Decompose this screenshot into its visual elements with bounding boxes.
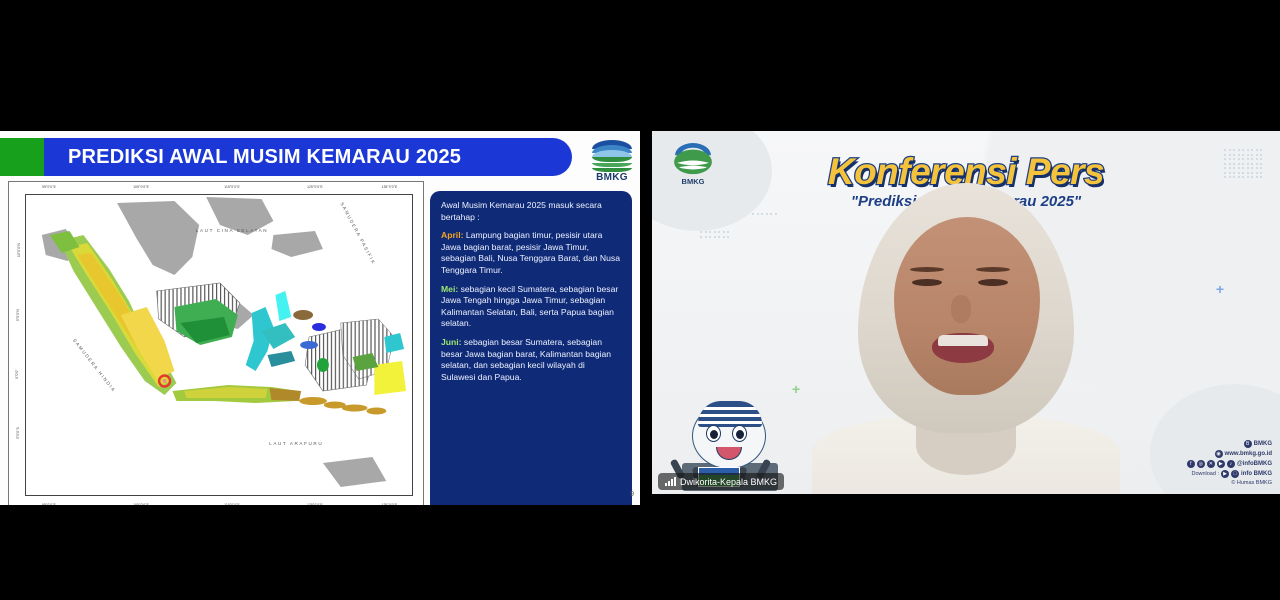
brand-icon: B bbox=[1244, 440, 1252, 448]
map-x-tick: 95°0'0"E bbox=[42, 185, 56, 189]
map-y-tick: 5°0'0"S bbox=[16, 427, 20, 439]
speaker-figure bbox=[806, 183, 1126, 494]
dot-grid-decor bbox=[700, 231, 729, 238]
map-y-tick: 5°0'0"N bbox=[16, 309, 20, 321]
instagram-icon: ◎ bbox=[1197, 460, 1205, 468]
map-x-tick: 135°0'0"E bbox=[382, 185, 398, 189]
map-ocean-label: LAUT CINA SELATAN bbox=[196, 228, 268, 233]
copyright-text: © Humas BMKG bbox=[1231, 480, 1272, 486]
youtube-icon: ▶ bbox=[1217, 460, 1225, 468]
page-number: 9 bbox=[630, 491, 634, 498]
info-juni: Juni: sebagian besar Sumatera, sebagian … bbox=[441, 337, 621, 383]
globe-icon: ◉ bbox=[1215, 450, 1223, 458]
month-label-april: April: bbox=[441, 230, 463, 240]
participant-name-badge: Dwikorita-Kepala BMKG bbox=[658, 473, 784, 490]
header-green-accent bbox=[0, 138, 46, 176]
shared-slide-panel: PREDIKSI AWAL MUSIM KEMARAU 2025 BMKG bbox=[0, 131, 640, 505]
info-panel: Awal Musim Kemarau 2025 masuk secara ber… bbox=[430, 191, 632, 505]
video-contact-block: BBMKG ◉www.bmkg.go.id f ◎ ✕ ▶ ♪ @infoBMK… bbox=[1187, 440, 1272, 488]
map-y-tick: 0°0'0" bbox=[15, 369, 19, 379]
x-twitter-icon: ✕ bbox=[1207, 460, 1215, 468]
info-juni-text: sebagian besar Sumatera, sebagian besar … bbox=[441, 337, 611, 382]
facebook-icon: f bbox=[1187, 460, 1195, 468]
indonesia-season-map: LAUT CINA SELATAN SAMUDERA PASIFIK SAMUD… bbox=[8, 181, 424, 505]
participant-name: Dwikorita-Kepala BMKG bbox=[680, 477, 777, 487]
bmkg-logo-label: BMKG bbox=[586, 172, 638, 183]
map-ocean-label: LAUT ARAFURU bbox=[269, 441, 323, 446]
map-x-tick: 105°0'0"E bbox=[133, 185, 149, 189]
map-plot-area: LAUT CINA SELATAN SAMUDERA PASIFIK SAMUD… bbox=[25, 194, 413, 496]
map-x-tick: 125°0'0"E bbox=[307, 503, 323, 505]
map-x-tick: 115°0'0"E bbox=[224, 503, 240, 505]
download-label: Download : bbox=[1191, 471, 1219, 477]
map-x-tick: 105°0'0"E bbox=[133, 503, 149, 505]
contact-website: www.bmkg.go.id bbox=[1225, 451, 1272, 457]
info-intro: Awal Musim Kemarau 2025 masuk secara ber… bbox=[441, 200, 621, 223]
page-title: PREDIKSI AWAL MUSIM KEMARAU 2025 bbox=[44, 146, 461, 169]
map-y-tick: 10°0'0"N bbox=[17, 243, 21, 257]
download-app-name: info BMKG bbox=[1241, 471, 1272, 477]
map-svg bbox=[26, 195, 412, 495]
map-x-tick: 135°0'0"E bbox=[382, 503, 398, 505]
plus-decor-icon: + bbox=[1216, 281, 1224, 297]
video-participant-tile[interactable]: BMKG Konferensi Pers "Prediksi Musim Kem… bbox=[652, 131, 1280, 494]
month-label-mei: Mei: bbox=[441, 284, 458, 294]
plus-decor-icon: + bbox=[792, 381, 800, 397]
info-april: April: Lampung bagian timur, pesisir uta… bbox=[441, 230, 621, 276]
bmkg-logo-icon: BMKG bbox=[586, 136, 638, 184]
map-x-tick: 95°0'0"E bbox=[42, 503, 56, 505]
appstore-icon:  bbox=[1231, 470, 1239, 478]
slide-header: PREDIKSI AWAL MUSIM KEMARAU 2025 BMKG bbox=[0, 134, 640, 180]
month-label-juni: Juni: bbox=[441, 337, 462, 347]
contact-brand: BMKG bbox=[1254, 441, 1272, 447]
contact-social: @infoBMKG bbox=[1237, 461, 1272, 467]
screen-root: PREDIKSI AWAL MUSIM KEMARAU 2025 BMKG bbox=[0, 0, 1280, 600]
dot-grid-decor bbox=[752, 213, 777, 215]
info-mei-text: sebagian kecil Sumatera, sebagian besar … bbox=[441, 284, 618, 329]
header-title-bar: PREDIKSI AWAL MUSIM KEMARAU 2025 bbox=[44, 138, 572, 176]
playstore-icon: ▶ bbox=[1221, 470, 1229, 478]
info-april-text: Lampung bagian timur, pesisir utara Jawa… bbox=[441, 230, 620, 275]
info-mei: Mei: sebagian kecil Sumatera, sebagian b… bbox=[441, 284, 621, 330]
map-x-tick: 125°0'0"E bbox=[307, 185, 323, 189]
map-x-tick: 115°0'0"E bbox=[224, 185, 240, 189]
tiktok-icon: ♪ bbox=[1227, 460, 1235, 468]
signal-strength-icon bbox=[665, 477, 676, 486]
